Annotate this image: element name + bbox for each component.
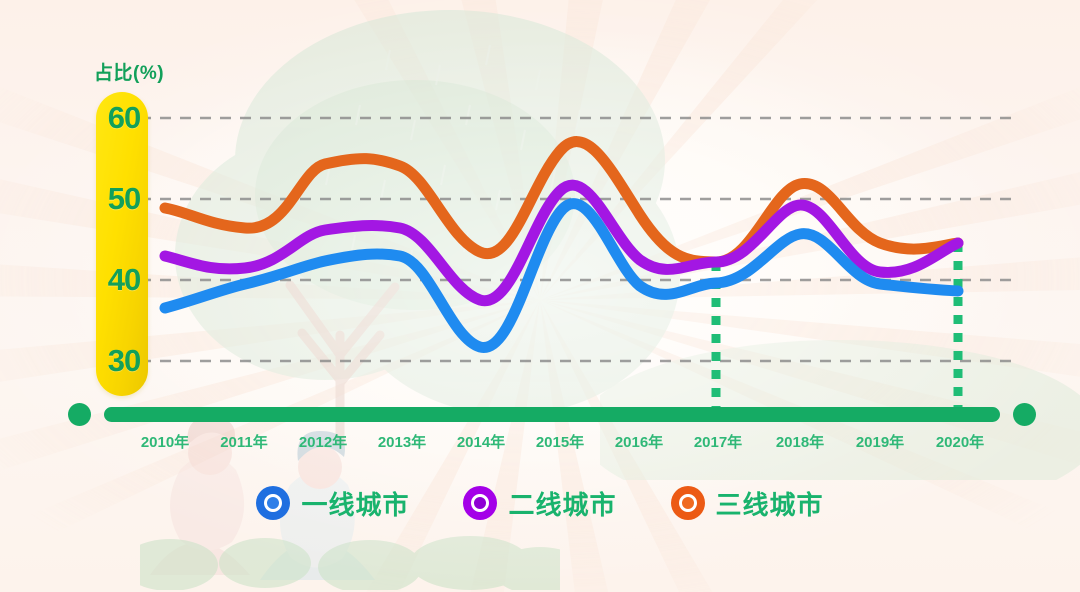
series-line-tier1	[165, 204, 958, 348]
y-tick-60: 60	[96, 100, 152, 136]
x-tick-2017: 2017年	[672, 431, 764, 452]
x-tick-2019: 2019年	[834, 431, 926, 452]
legend-ring-icon-tier2	[463, 486, 497, 520]
x-tick-2020: 2020年	[914, 431, 1006, 452]
legend-ring-icon-tier3	[671, 486, 705, 520]
legend-item-tier3[interactable]: 三线城市	[671, 485, 824, 522]
chart-canvas: 占比(%) 60 50 40 30 2010年 2011年 2012年 2013…	[0, 0, 1080, 592]
legend-label-tier2: 二线城市	[508, 485, 616, 522]
chart-legend: 一线城市 二线城市 三线城市	[0, 480, 1080, 526]
legend-label-tier1: 一线城市	[301, 485, 409, 522]
x-axis-end-dot-left	[68, 403, 91, 426]
legend-label-tier3: 三线城市	[716, 485, 824, 522]
y-tick-30: 30	[96, 343, 152, 379]
legend-item-tier1[interactable]: 一线城市	[256, 485, 409, 522]
legend-item-tier2[interactable]: 二线城市	[463, 485, 616, 522]
y-axis-title: 占比(%)	[94, 58, 164, 85]
x-axis-end-dot-right	[1013, 403, 1036, 426]
y-tick-50: 50	[96, 181, 152, 217]
x-tick-2018: 2018年	[754, 431, 846, 452]
legend-ring-icon-tier1	[256, 486, 290, 520]
y-tick-40: 40	[96, 262, 152, 298]
x-axis-bar	[104, 407, 1000, 422]
